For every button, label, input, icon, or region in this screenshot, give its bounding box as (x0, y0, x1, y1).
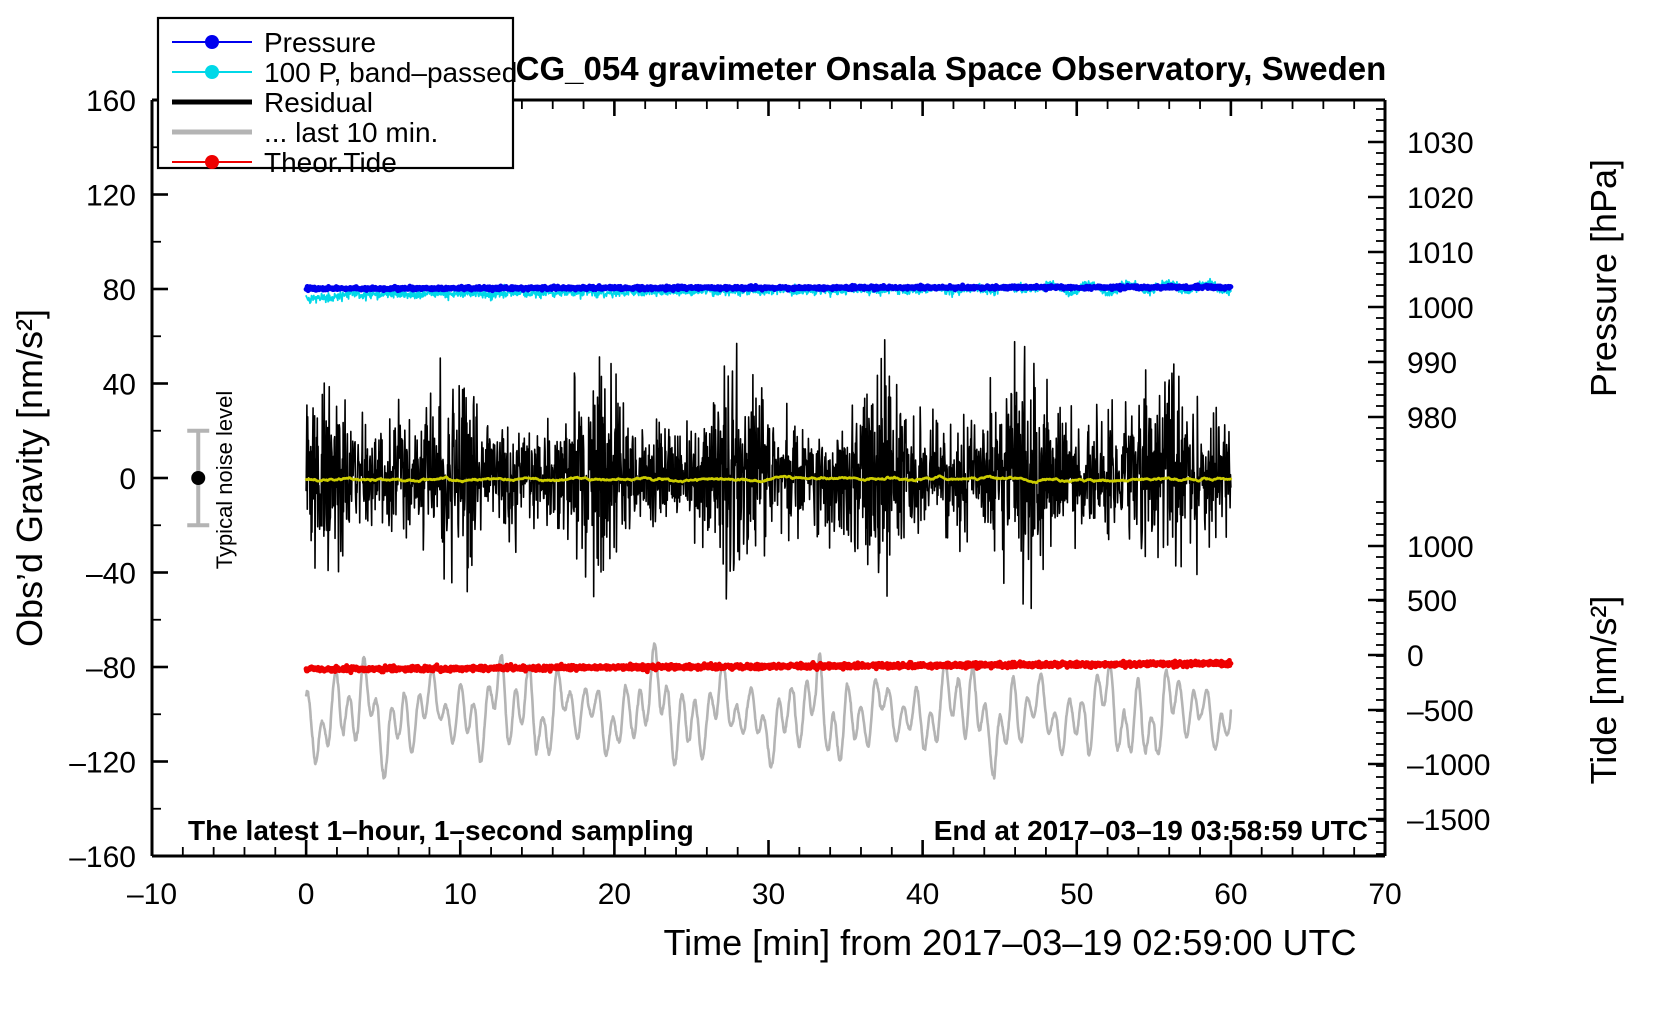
pressure-tick-label: 1000 (1407, 292, 1474, 325)
gravimeter-plot: 16012080400–40–80–120–160 –1001020304050… (0, 0, 1660, 1020)
y-tick-label: –120 (69, 747, 136, 780)
pressure-tick-label: 990 (1407, 347, 1457, 380)
tide-tick-label: 0 (1407, 640, 1424, 673)
tide-tick-label: –1000 (1407, 749, 1490, 782)
end-time-note: End at 2017–03–19 03:58:59 UTC (934, 815, 1368, 846)
series-pressure (306, 285, 1231, 291)
chart-title: SCG_054 gravimeter Onsala Space Observat… (494, 50, 1387, 87)
x-tick-label: 50 (1060, 878, 1093, 911)
sampling-note: The latest 1–hour, 1–second sampling (188, 815, 694, 846)
pressure-tick-label: 1010 (1407, 237, 1474, 270)
y-axis-title: Obs’d Gravity [nm/s²] (9, 309, 50, 647)
pressure-tick-label: 1020 (1407, 182, 1474, 215)
right-axis-tide-title: Tide [nm/s²] (1583, 596, 1624, 785)
pressure-tick-label: 980 (1407, 402, 1457, 435)
x-axis-title: Time [min] from 2017–03–19 02:59:00 UTC (663, 922, 1356, 963)
legend-label-3: ... last 10 min. (264, 117, 438, 148)
pressure-tick-label: 1030 (1407, 127, 1474, 160)
legend-marker-1 (205, 65, 219, 79)
x-tick-label: 20 (598, 878, 631, 911)
legend-label-1: 100 P, band–passed (264, 57, 517, 88)
x-tick-label: 70 (1368, 878, 1401, 911)
x-tick-label: 0 (298, 878, 315, 911)
noise-center-dot (191, 471, 205, 485)
y-tick-label: 40 (103, 369, 136, 402)
x-tick-label: 60 (1214, 878, 1247, 911)
legend: Pressure100 P, band–passedResidual... la… (158, 18, 517, 178)
x-tick-label: 40 (906, 878, 939, 911)
legend-label-0: Pressure (264, 27, 376, 58)
y-tick-label: –80 (86, 652, 136, 685)
y-tick-label: 80 (103, 274, 136, 307)
tide-tick-label: 1000 (1407, 531, 1474, 564)
noise-level-label: Typical noise level (212, 391, 237, 570)
tide-tick-label: 500 (1407, 585, 1457, 618)
legend-marker-4 (205, 155, 219, 169)
y-tick-label: –160 (69, 841, 136, 874)
y-tick-label: 160 (86, 85, 136, 118)
legend-label-4: Theor.Tide (264, 147, 397, 178)
tide-tick-label: –500 (1407, 695, 1474, 728)
right-axis-pressure-title: Pressure [hPa] (1583, 159, 1624, 397)
y-tick-label: –40 (86, 558, 136, 591)
x-tick-label: 30 (752, 878, 785, 911)
legend-marker-0 (205, 35, 219, 49)
tide-tick-label: –1500 (1407, 804, 1490, 837)
y-tick-label: 120 (86, 180, 136, 213)
y-tick-label: 0 (119, 463, 136, 496)
x-tick-label: –10 (127, 878, 177, 911)
x-tick-label: 10 (444, 878, 477, 911)
chart-canvas: 16012080400–40–80–120–160 –1001020304050… (0, 0, 1660, 1020)
legend-label-2: Residual (264, 87, 373, 118)
